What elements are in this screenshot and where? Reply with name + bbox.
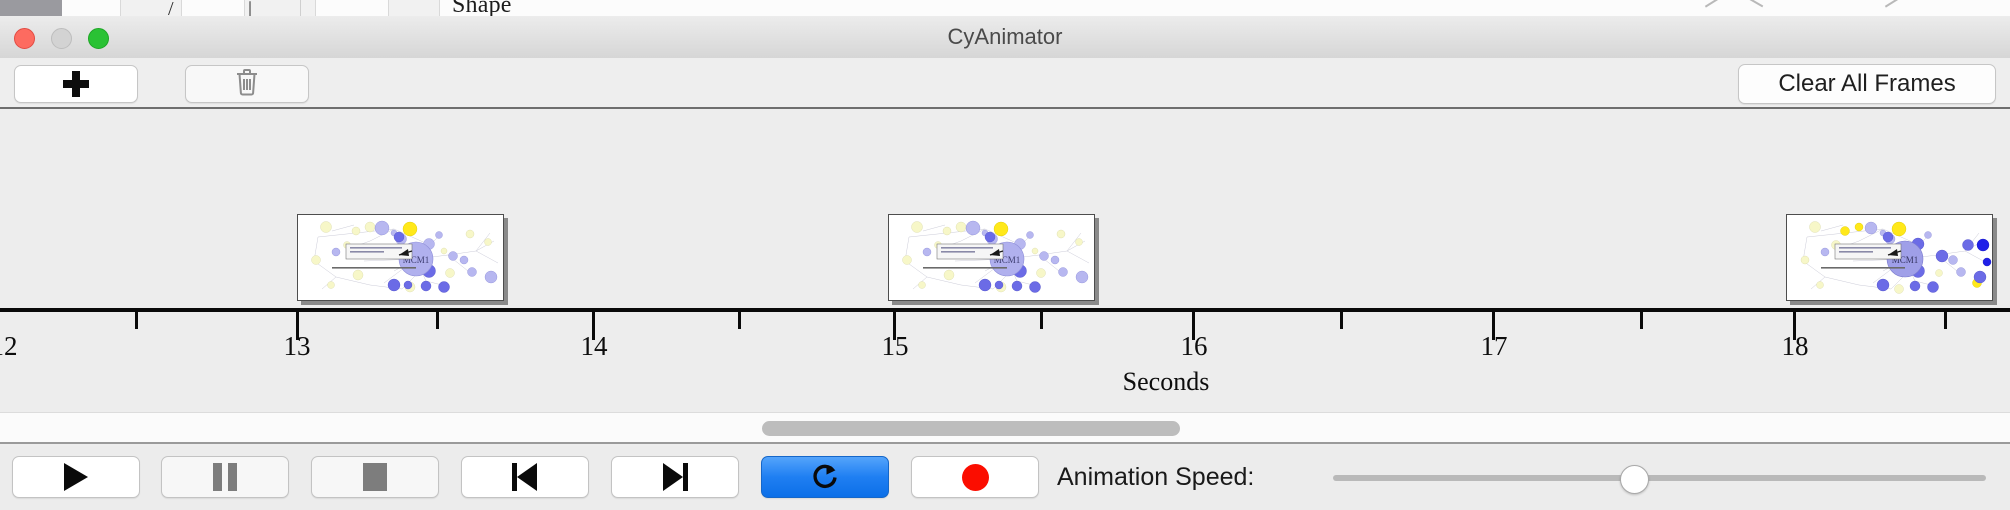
axis-tick-minor [1340, 312, 1343, 329]
axis-tick-label: 18 [1782, 331, 1809, 362]
background-cell [388, 0, 440, 16]
timeline-horizontal-scrollbar[interactable] [0, 412, 2010, 444]
background-glyph: | [248, 0, 252, 17]
trash-icon [234, 67, 260, 102]
axis-tick-label: 16 [1181, 331, 1208, 362]
frame-thumbnail-1[interactable]: MCM1 [297, 214, 504, 301]
axis-tick-label: 12 [0, 331, 18, 362]
axis-tick-minor [1944, 312, 1947, 329]
transport-controls: Animation Speed: [0, 446, 2010, 510]
animation-speed-label: Animation Speed: [1057, 456, 1254, 498]
timeline-axis [0, 308, 2010, 312]
axis-tick-label: 15 [882, 331, 909, 362]
record-button[interactable] [911, 456, 1039, 498]
skip-to-start-button[interactable] [461, 456, 589, 498]
axis-tick-label: 17 [1481, 331, 1508, 362]
cyanimator-window: / | Shape CyAnimator Clear All [0, 0, 2010, 510]
clear-all-frames-button[interactable]: Clear All Frames [1738, 64, 1996, 104]
skip-next-icon [662, 463, 688, 491]
background-window-label: Shape [452, 0, 512, 17]
axis-tick-minor [738, 312, 741, 329]
slider-track[interactable] [1333, 475, 1986, 481]
play-button[interactable] [12, 456, 140, 498]
record-icon [962, 464, 989, 491]
window-title: CyAnimator [0, 16, 2010, 58]
axis-title: Seconds [1123, 367, 1210, 397]
axis-tick-label: 13 [284, 331, 311, 362]
delete-frame-button[interactable] [185, 65, 309, 103]
slider-thumb[interactable] [1620, 465, 1649, 494]
background-slash [1885, 0, 1901, 8]
axis-tick-minor [1040, 312, 1043, 329]
background-slash [1705, 0, 1721, 8]
stop-button[interactable] [311, 456, 439, 498]
axis-tick-minor [135, 312, 138, 329]
pause-icon [213, 463, 237, 491]
frame-thumbnail-2[interactable]: MCM1 [888, 214, 1095, 301]
stop-icon [363, 463, 387, 491]
timeline-panel[interactable]: MCM1 [0, 109, 2010, 412]
frame-thumbnail-3[interactable]: MCM1 [1786, 214, 1993, 301]
background-slash [1747, 0, 1764, 7]
background-window-strip: / | Shape [0, 0, 2010, 17]
axis-tick-minor [436, 312, 439, 329]
skip-previous-icon [512, 463, 538, 491]
background-cell [244, 0, 316, 16]
axis-tick-minor [1640, 312, 1643, 329]
axis-tick-label: 14 [581, 331, 608, 362]
plus-icon [63, 71, 89, 97]
skip-to-end-button[interactable] [611, 456, 739, 498]
toolbar: Clear All Frames [0, 58, 2010, 109]
animation-speed-slider[interactable] [1333, 456, 1986, 498]
add-frame-button[interactable] [14, 65, 138, 103]
background-separator [300, 0, 301, 16]
loop-button[interactable] [761, 456, 889, 498]
title-bar[interactable]: CyAnimator [0, 16, 2010, 59]
loop-icon [810, 460, 840, 495]
pause-button[interactable] [161, 456, 289, 498]
play-icon [64, 463, 88, 491]
scrollbar-thumb[interactable] [762, 421, 1180, 436]
background-dark-tab [0, 0, 62, 16]
background-glyph: / [168, 0, 174, 17]
